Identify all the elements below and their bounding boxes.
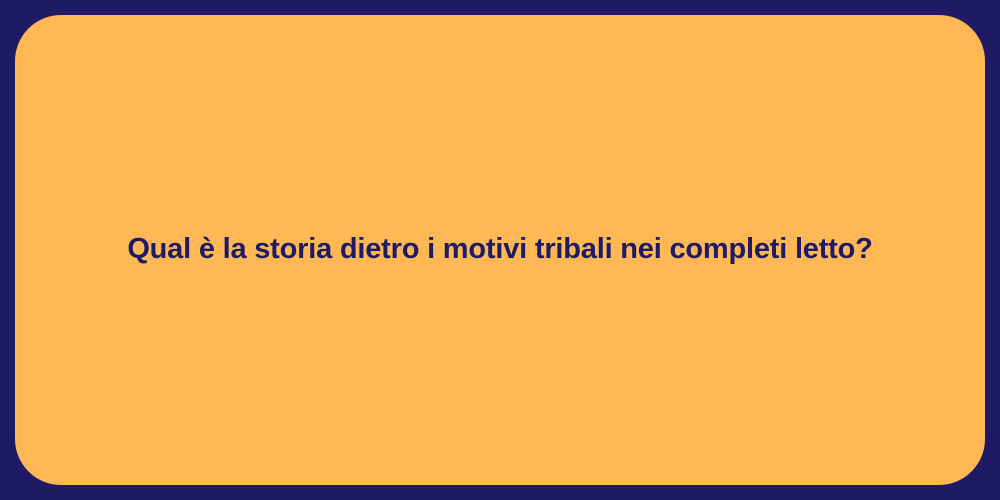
question-card: Qual è la storia dietro i motivi tribali… bbox=[15, 15, 985, 485]
question-text: Qual è la storia dietro i motivi tribali… bbox=[67, 231, 932, 269]
page-background: Qual è la storia dietro i motivi tribali… bbox=[0, 0, 1000, 500]
